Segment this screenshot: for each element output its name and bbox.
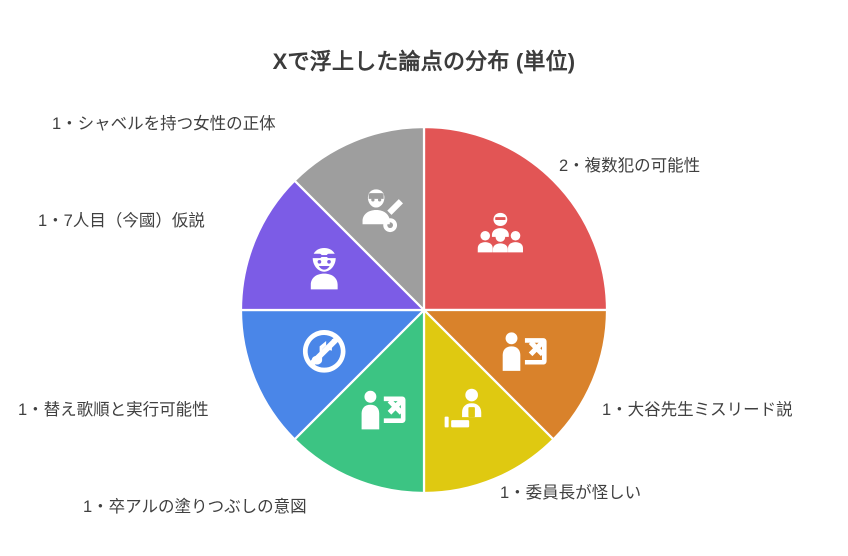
pie-slice[interactable] — [424, 127, 607, 310]
pie-chart-figure: Xで浮上した論点の分布 (単位) — [0, 0, 848, 556]
pie-label-1: 1・大谷先生ミスリード説 — [602, 400, 793, 421]
pie-label-3: 1・卒アルの塗りつぶしの意図 — [83, 497, 307, 518]
pie-label-2: 1・委員長が怪しい — [500, 483, 641, 504]
pie-chart-area — [239, 125, 609, 495]
pie-slices-group — [241, 127, 607, 493]
pie-label-4: 1・替え歌順と実行可能性 — [18, 400, 209, 421]
pie-label-0: 2・複数犯の可能性 — [559, 156, 700, 177]
chart-title: Xで浮上した論点の分布 (単位) — [0, 44, 848, 76]
pie-label-6: 1・シャベルを持つ女性の正体 — [52, 114, 276, 135]
pie-svg — [239, 125, 609, 495]
pie-label-5: 1・7人目（今國）仮説 — [38, 211, 205, 232]
